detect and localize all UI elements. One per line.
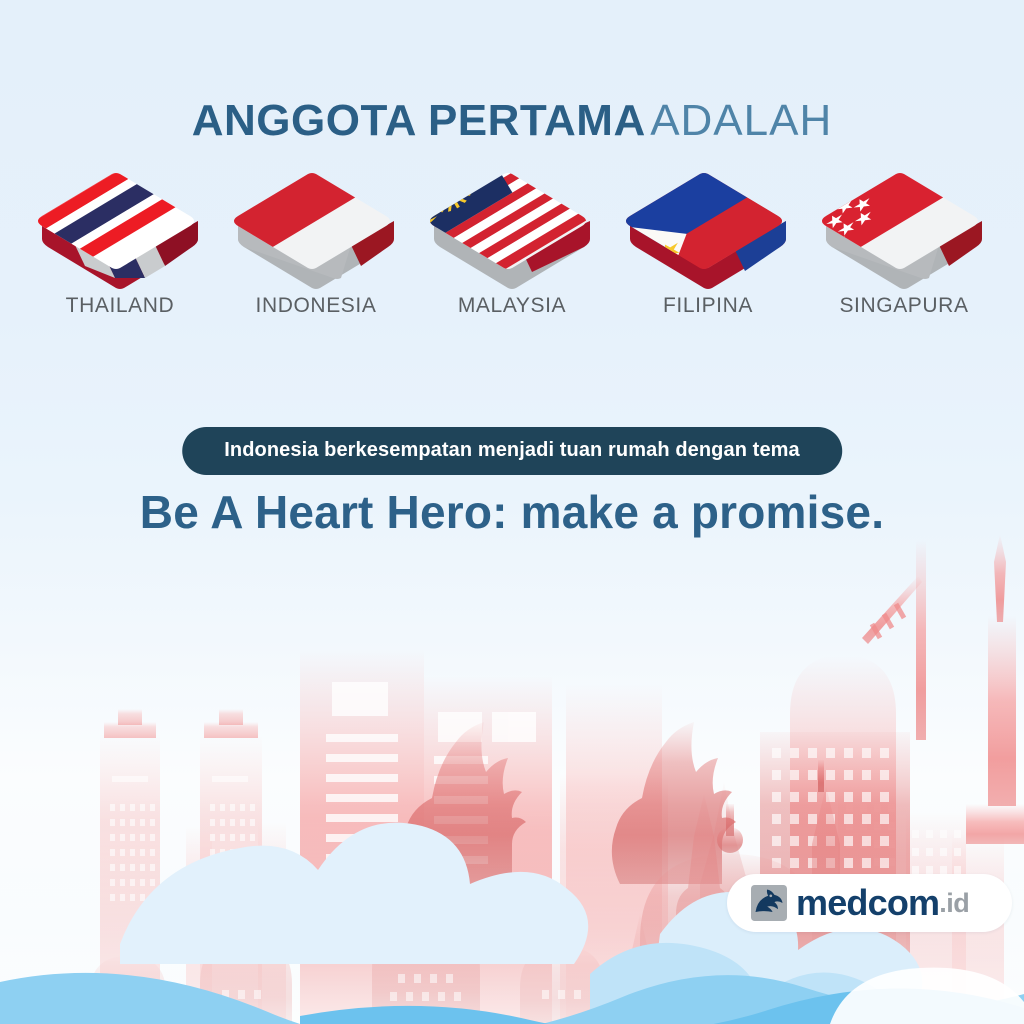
flag-item-singapura: SINGAPURA xyxy=(819,160,989,318)
page-title-bold: ANGGOTA PERTAMA xyxy=(192,96,646,145)
flag-singapore-icon xyxy=(819,160,989,290)
page-title-thin: ADALAH xyxy=(650,96,832,145)
infographic-canvas: ANGGOTA PERTAMA ADALAH xyxy=(0,0,1024,1024)
flag-indonesia-icon xyxy=(231,160,401,290)
flag-item-indonesia: INDONESIA xyxy=(231,160,401,318)
logo-wordmark: medcom xyxy=(796,885,939,921)
flag-item-filipina: FILIPINA xyxy=(623,160,793,318)
scenery-illustration xyxy=(0,504,1024,1024)
flag-thailand-icon xyxy=(35,160,205,290)
medcom-logo[interactable]: medcom .id xyxy=(727,874,1012,932)
page-title: ANGGOTA PERTAMA ADALAH xyxy=(0,96,1024,146)
flags-row: THAILAND xyxy=(0,160,1024,318)
logo-tld: .id xyxy=(939,888,969,919)
theme-banner: Indonesia berkesempatan menjadi tuan rum… xyxy=(182,427,842,475)
flag-malaysia-icon xyxy=(427,160,597,290)
flag-label-filipina: FILIPINA xyxy=(623,294,793,318)
flag-item-thailand: THAILAND xyxy=(35,160,205,318)
flag-item-malaysia: MALAYSIA xyxy=(427,160,597,318)
eagle-head-icon xyxy=(751,885,787,921)
campaign-headline: Be A Heart Hero: make a promise. xyxy=(0,485,1024,539)
flag-label-malaysia: MALAYSIA xyxy=(427,294,597,318)
flag-label-indonesia: INDONESIA xyxy=(231,294,401,318)
flag-label-singapura: SINGAPURA xyxy=(819,294,989,318)
flag-label-thailand: THAILAND xyxy=(35,294,205,318)
flag-philippines-icon xyxy=(623,160,793,290)
